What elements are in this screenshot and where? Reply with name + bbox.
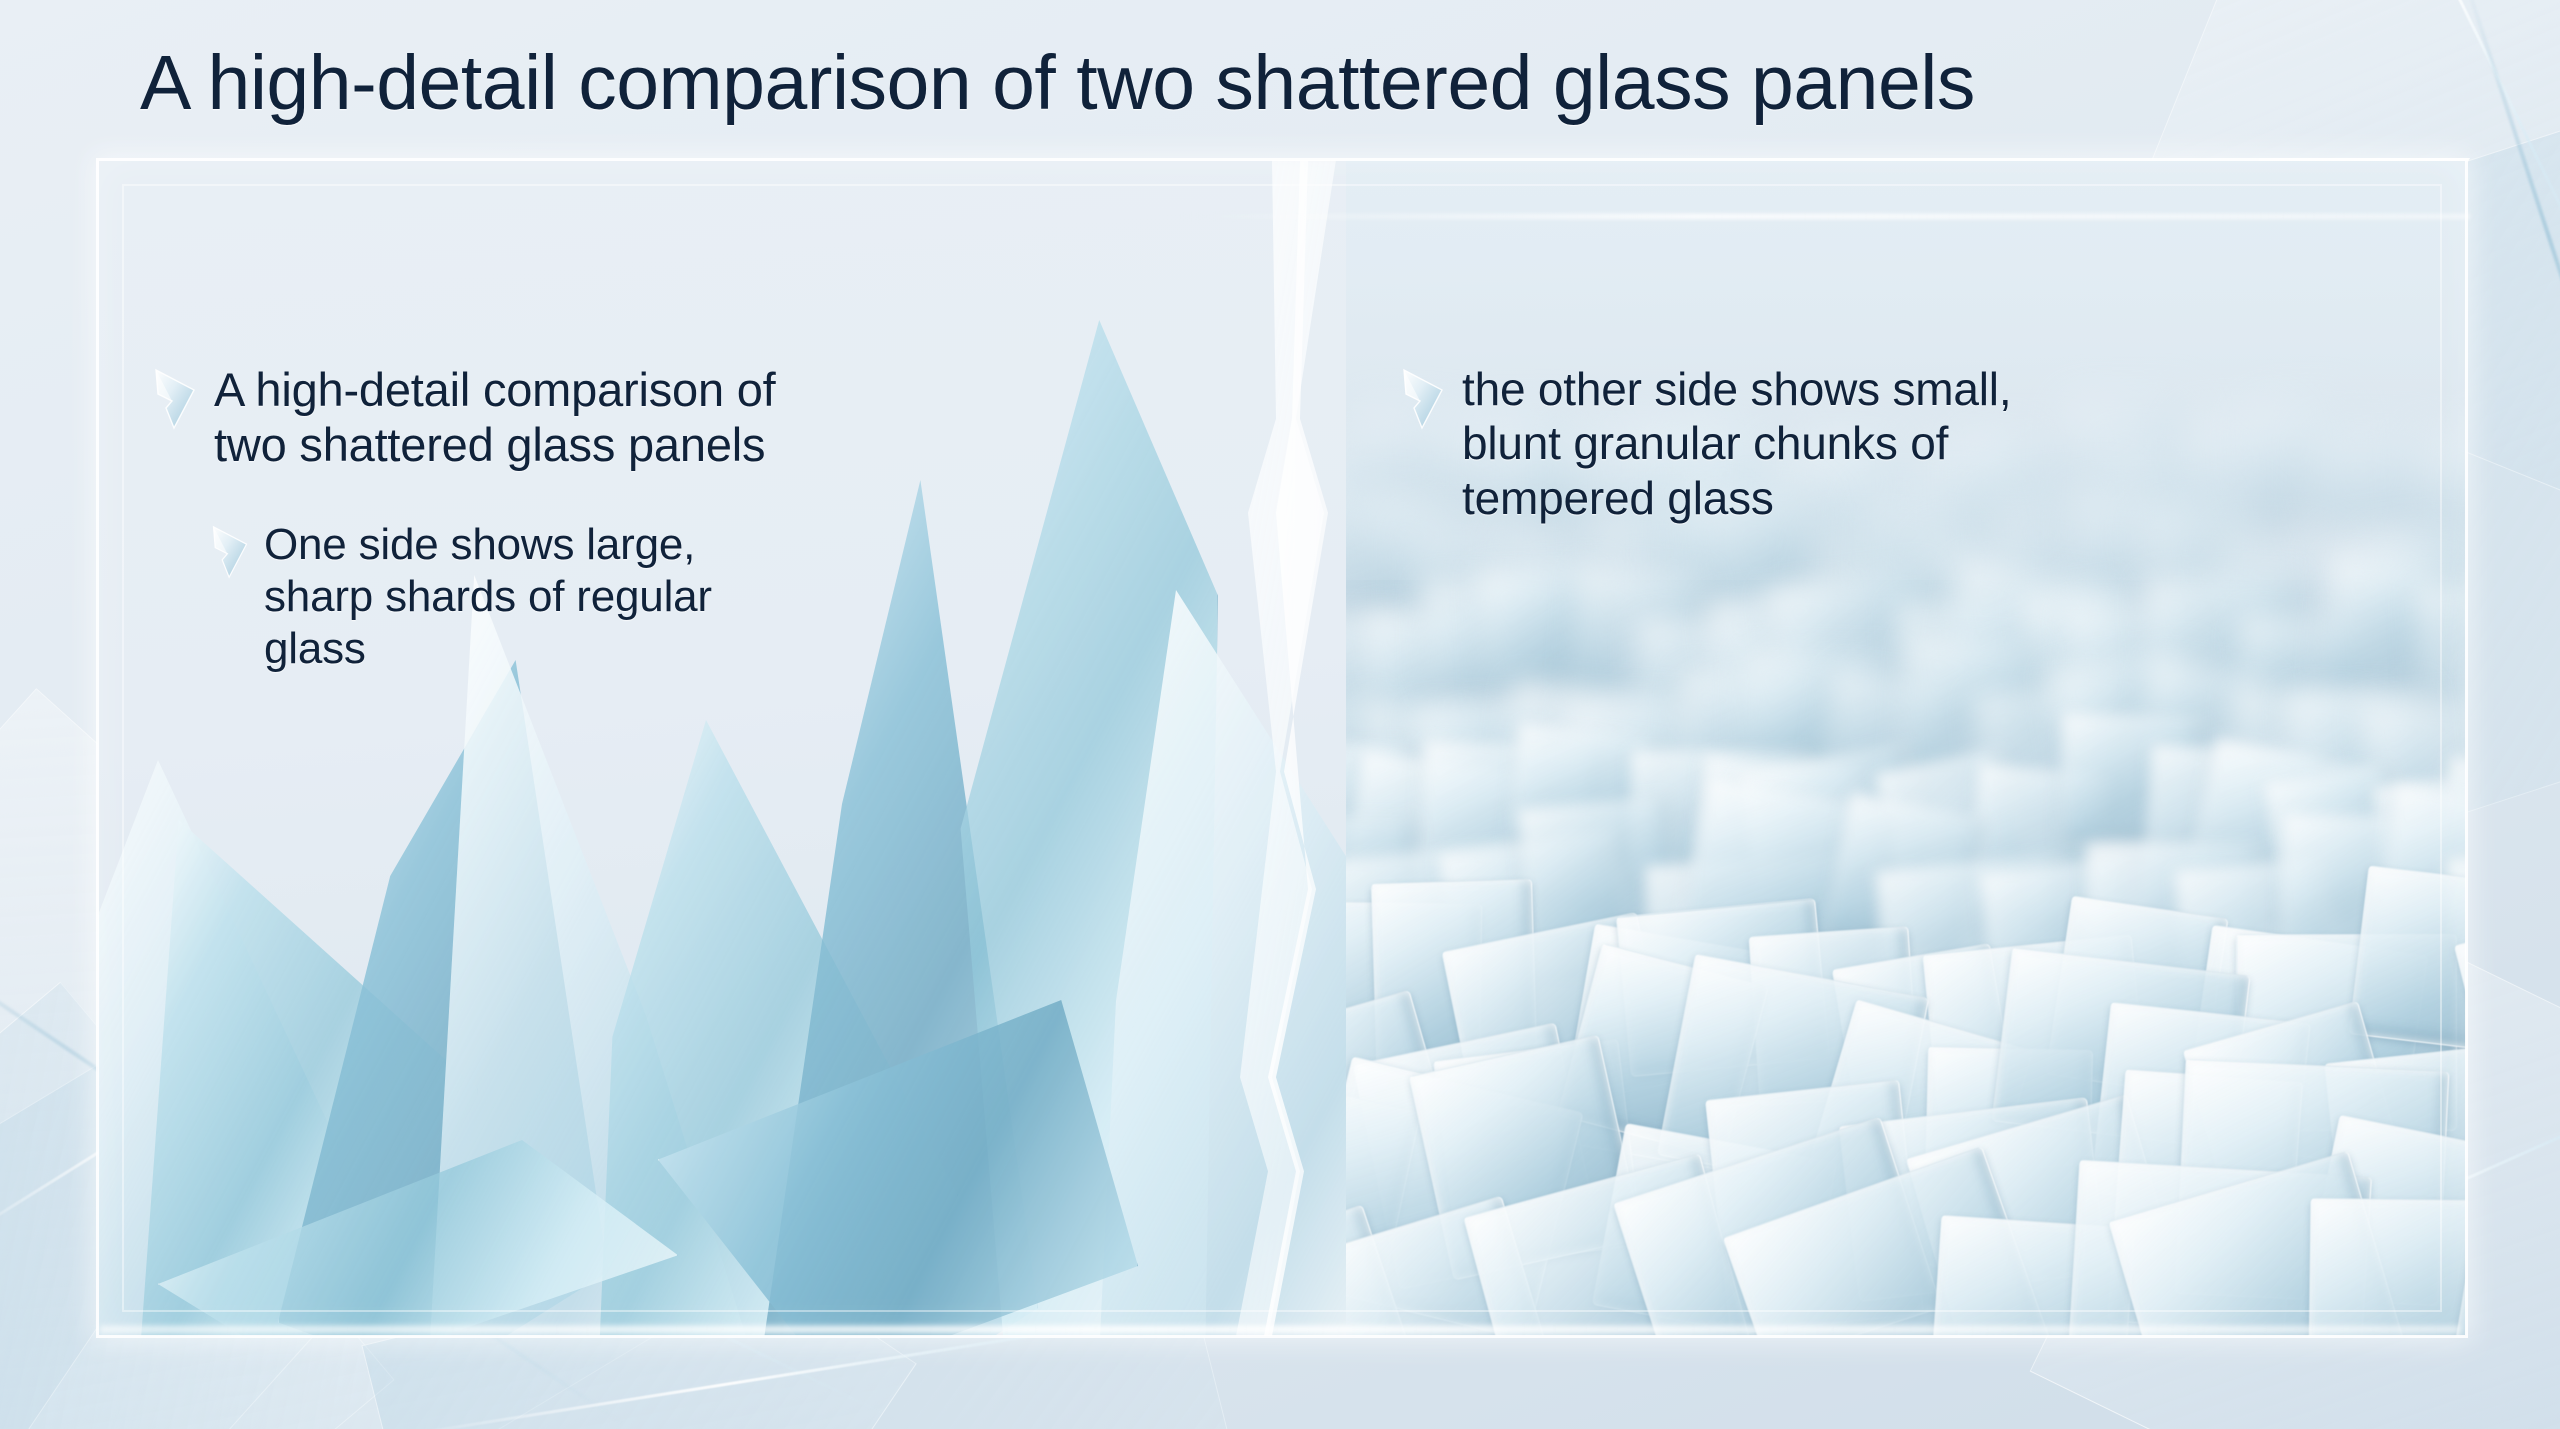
bullet-text: One side shows large, sharp shards of re…	[264, 519, 812, 675]
glass-cube	[2349, 865, 2466, 1057]
right-bullet-list: the other side shows small, blunt granul…	[1400, 362, 2120, 525]
bg-light-streak-5	[2460, 0, 2560, 635]
comparison-panels	[98, 160, 2466, 1336]
glass-cube	[2307, 1198, 2466, 1336]
glass-shard-bullet-icon	[210, 525, 250, 579]
left-panel-sharp-shards-image	[98, 160, 1368, 1336]
bullet-item[interactable]: A high-detail comparison of two shattere…	[152, 362, 812, 473]
glass-shard-bullet-icon	[1400, 368, 1446, 430]
slide-canvas: A high-detail comparison of two shattere…	[0, 0, 2560, 1429]
glass-shard-bullet-icon	[152, 368, 198, 430]
left-bullet-list: A high-detail comparison of two shattere…	[152, 362, 812, 675]
right-panel-granular-chunks-image	[1346, 160, 2466, 1336]
bullet-item-sub[interactable]: One side shows large, sharp shards of re…	[210, 519, 812, 675]
bullet-item[interactable]: the other side shows small, blunt granul…	[1400, 362, 2120, 525]
bullet-text: A high-detail comparison of two shattere…	[214, 362, 812, 473]
bullet-text: the other side shows small, blunt granul…	[1462, 362, 2120, 525]
slide-title: A high-detail comparison of two shattere…	[140, 42, 2470, 125]
